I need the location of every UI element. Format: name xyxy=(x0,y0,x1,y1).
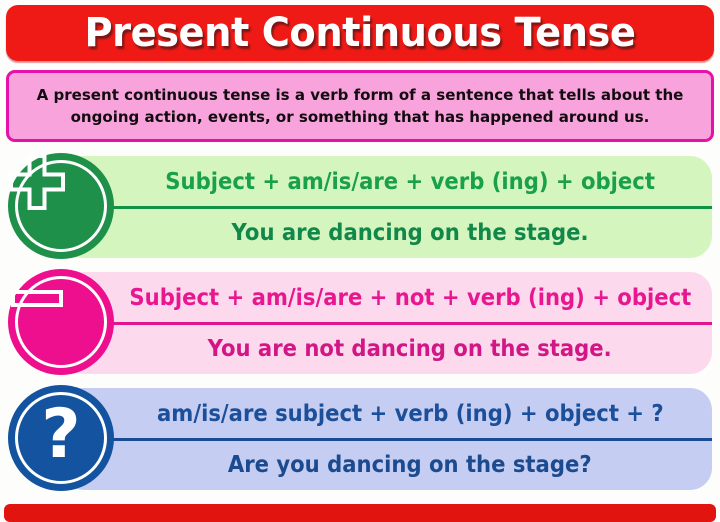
row-interrogative: am/is/are subject + verb (ing) + object … xyxy=(0,384,720,494)
row-negative: Subject + am/is/are + not + verb (ing) +… xyxy=(0,268,720,378)
definition-text: A present continuous tense is a verb for… xyxy=(31,84,689,128)
question-mark-icon: ? xyxy=(8,385,114,491)
affirmative-example: You are dancing on the stage. xyxy=(231,220,588,246)
question-mark-glyph: ? xyxy=(41,401,80,469)
negative-bar: Subject + am/is/are + not + verb (ing) +… xyxy=(62,272,712,374)
affirmative-formula: Subject + am/is/are + verb (ing) + objec… xyxy=(165,169,655,195)
negative-formula: Subject + am/is/are + not + verb (ing) +… xyxy=(129,285,691,311)
title-banner: Present Continuous Tense xyxy=(6,5,714,61)
plus-icon xyxy=(8,153,114,259)
negative-example: You are not dancing on the stage. xyxy=(208,336,612,362)
interrogative-formula: am/is/are subject + verb (ing) + object … xyxy=(157,401,664,427)
bottom-strip xyxy=(4,504,716,522)
definition-box: A present continuous tense is a verb for… xyxy=(6,70,714,142)
row-affirmative: Subject + am/is/are + verb (ing) + objec… xyxy=(0,152,720,262)
page-title: Present Continuous Tense xyxy=(85,13,636,53)
interrogative-example: Are you dancing on the stage? xyxy=(228,452,592,478)
affirmative-bar: Subject + am/is/are + verb (ing) + objec… xyxy=(62,156,712,258)
minus-icon xyxy=(8,269,114,375)
plus-glyph xyxy=(8,153,66,211)
minus-glyph xyxy=(8,269,66,327)
interrogative-bar: am/is/are subject + verb (ing) + object … xyxy=(62,388,712,490)
infographic-page: Present Continuous Tense A present conti… xyxy=(0,0,720,512)
